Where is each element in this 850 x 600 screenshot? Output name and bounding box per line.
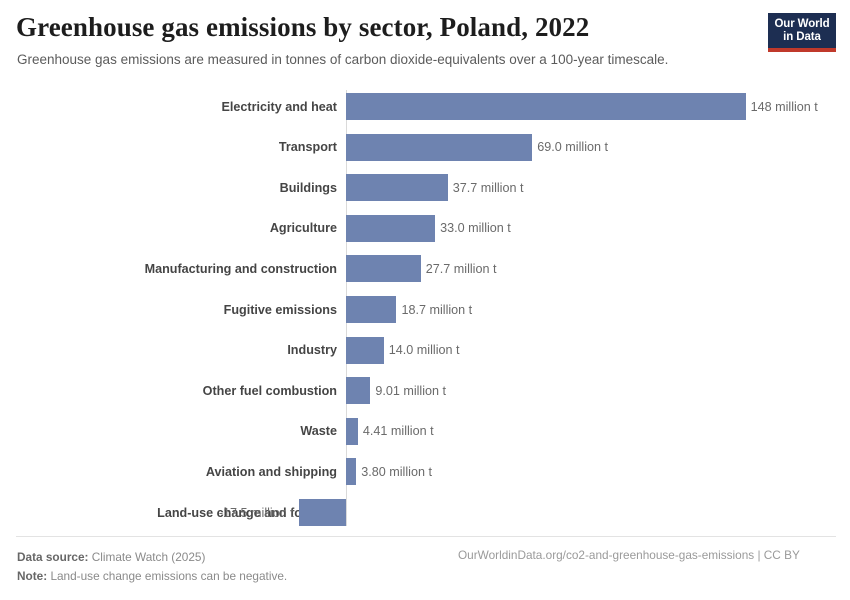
bar-category-label: Transport: [0, 140, 342, 154]
data-source-line: Data source: Climate Watch (2025): [17, 548, 287, 567]
owid-logo[interactable]: Our World in Data: [768, 13, 836, 52]
bar-row[interactable]: Buildings37.7 million t: [0, 174, 850, 201]
note-label: Note:: [17, 569, 47, 583]
bar-category-label: Other fuel combustion: [0, 384, 342, 398]
footer-divider: [16, 536, 836, 537]
bar-value-label: 148 million t: [751, 100, 818, 114]
bar-row[interactable]: Other fuel combustion9.01 million t: [0, 377, 850, 404]
bar-row[interactable]: Industry14.0 million t: [0, 337, 850, 364]
bar[interactable]: [346, 134, 532, 161]
bar-chart: Electricity and heat148 million tTranspo…: [0, 88, 850, 532]
page-subtitle: Greenhouse gas emissions are measured in…: [17, 52, 668, 67]
bar-value-label: 14.0 million t: [389, 343, 460, 357]
bar-row[interactable]: Agriculture33.0 million t: [0, 215, 850, 242]
bar-row[interactable]: Land-use change and forestry-17.5 millio…: [0, 499, 850, 526]
footer-source-block: Data source: Climate Watch (2025) Note: …: [17, 548, 287, 586]
note-value: Land-use change emissions can be negativ…: [50, 569, 287, 583]
bar-value-label: 27.7 million t: [426, 262, 497, 276]
chart-page: Greenhouse gas emissions by sector, Pola…: [0, 0, 850, 600]
bar-row[interactable]: Waste4.41 million t: [0, 418, 850, 445]
bar-value-label: 37.7 million t: [453, 181, 524, 195]
bar-value-label: 18.7 million t: [401, 303, 472, 317]
chart-footer: Data source: Climate Watch (2025) Note: …: [0, 536, 850, 600]
bar-category-label: Aviation and shipping: [0, 465, 342, 479]
bar-value-label: 9.01 million t: [375, 384, 446, 398]
bar[interactable]: [346, 296, 396, 323]
footer-attribution[interactable]: OurWorldinData.org/co2-and-greenhouse-ga…: [458, 548, 800, 562]
bar[interactable]: [346, 458, 356, 485]
bar[interactable]: [346, 255, 421, 282]
bar[interactable]: [346, 337, 384, 364]
bar-category-label: Buildings: [0, 181, 342, 195]
bar[interactable]: [346, 174, 448, 201]
bar-value-label: 3.80 million t: [361, 465, 432, 479]
bar-category-label: Agriculture: [0, 221, 342, 235]
data-source-value: Climate Watch (2025): [92, 550, 206, 564]
bar-row[interactable]: Fugitive emissions18.7 million t: [0, 296, 850, 323]
bar-category-label: Waste: [0, 424, 342, 438]
bar-category-label: Fugitive emissions: [0, 303, 342, 317]
bar[interactable]: [299, 499, 346, 526]
note-line: Note: Land-use change emissions can be n…: [17, 567, 287, 586]
page-title: Greenhouse gas emissions by sector, Pola…: [16, 12, 589, 43]
bar[interactable]: [346, 418, 358, 445]
bar-row[interactable]: Manufacturing and construction27.7 milli…: [0, 255, 850, 282]
bar-value-label: 69.0 million t: [537, 140, 608, 154]
data-source-label: Data source:: [17, 550, 88, 564]
bar[interactable]: [346, 215, 435, 242]
bar-value-label: -17.5 million t: [219, 506, 294, 520]
bar-category-label: Electricity and heat: [0, 100, 342, 114]
bar-category-label: Industry: [0, 343, 342, 357]
bar-row[interactable]: Transport69.0 million t: [0, 134, 850, 161]
bar-row[interactable]: Aviation and shipping3.80 million t: [0, 458, 850, 485]
bar[interactable]: [346, 377, 370, 404]
bar-value-label: 33.0 million t: [440, 221, 511, 235]
bar-value-label: 4.41 million t: [363, 424, 434, 438]
owid-logo-line-1: Our World: [774, 18, 830, 31]
bar[interactable]: [346, 93, 746, 120]
owid-logo-line-2: in Data: [774, 31, 830, 44]
bar-category-label: Manufacturing and construction: [0, 262, 342, 276]
bar-row[interactable]: Electricity and heat148 million t: [0, 93, 850, 120]
chart-header: Greenhouse gas emissions by sector, Pola…: [0, 0, 850, 88]
